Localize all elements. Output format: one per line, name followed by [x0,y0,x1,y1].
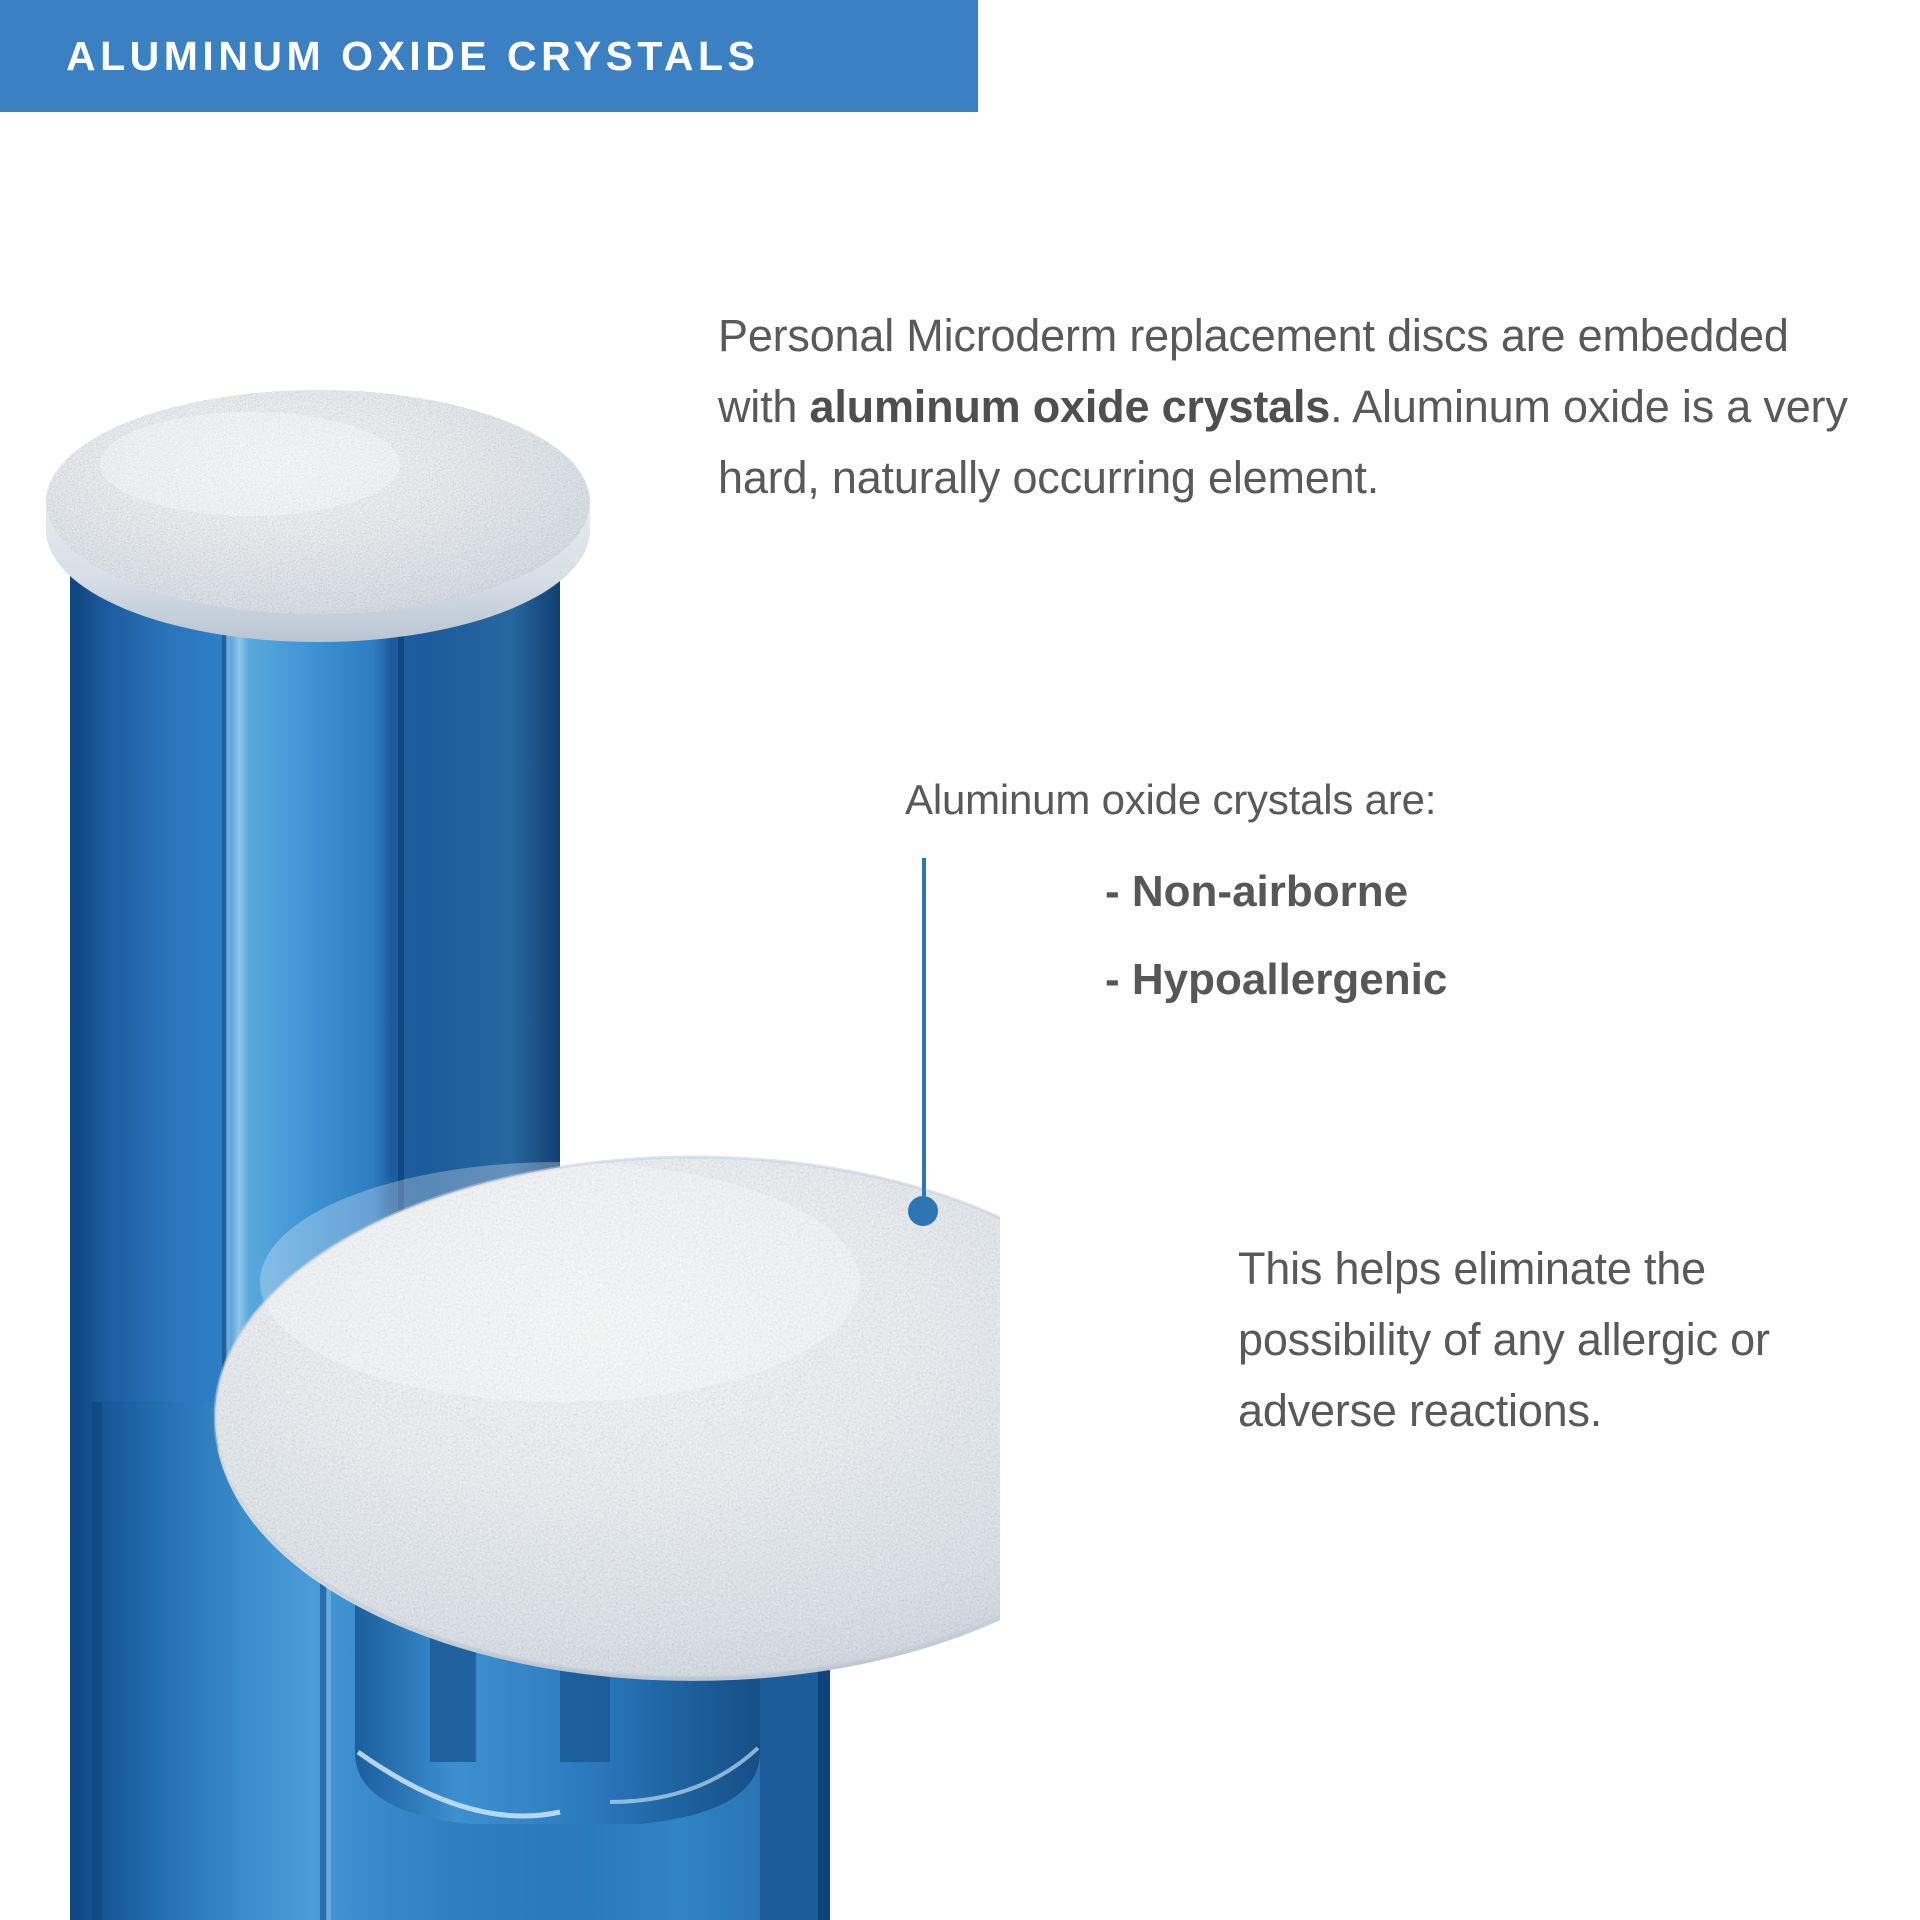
callout-dot [908,1196,938,1226]
banner-title: ALUMINUM OXIDE CRYSTALS [0,33,759,80]
infographic-canvas: ALUMINUM OXIDE CRYSTALS Personal Microde… [0,0,1920,1920]
crystal-properties-list: - Non-airborne - Hypoallergenic [1105,870,1865,1046]
outro-paragraph: This helps eliminate the possibility of … [1238,1233,1878,1446]
bullet-label: Hypoallergenic [1132,955,1447,1004]
header-banner: ALUMINUM OXIDE CRYSTALS [0,0,978,112]
bullet-label: Non-airborne [1132,867,1408,916]
crystals-heading: Aluminum oxide crystals are: [905,770,1705,831]
intro-text-bold: aluminum oxide crystals [810,381,1331,432]
bullet-dash: - [1105,867,1132,916]
list-item: - Non-airborne [1105,870,1865,914]
bullet-dash: - [1105,955,1132,1004]
callout-line [922,858,926,1196]
list-item: - Hypoallergenic [1105,958,1865,1002]
intro-paragraph: Personal Microderm replacement discs are… [718,300,1853,513]
